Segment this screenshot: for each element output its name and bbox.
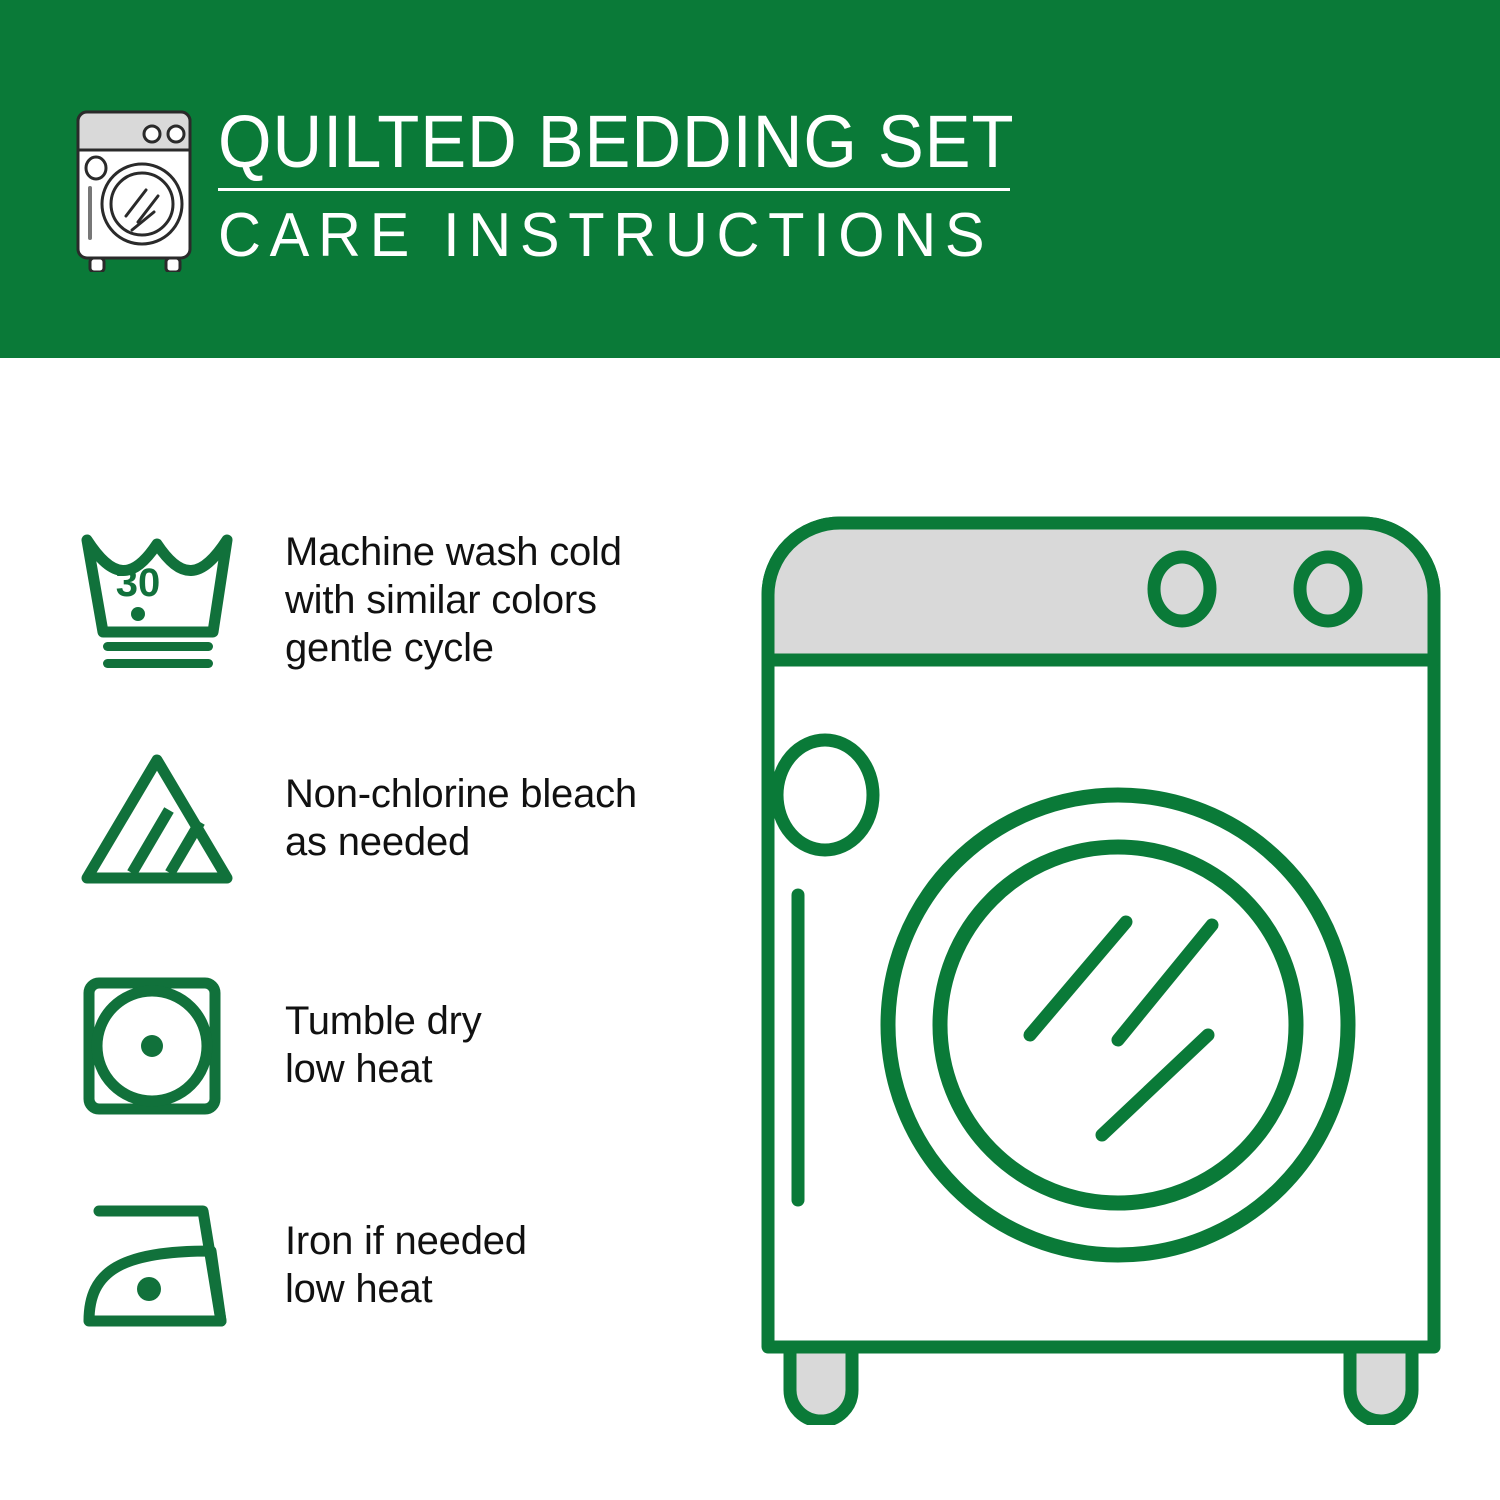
care-text-line: as needed: [285, 818, 637, 866]
care-text-line: low heat: [285, 1045, 482, 1093]
non-chlorine-bleach-triangle-icon: [75, 743, 255, 893]
care-instructions-page: QUILTED BEDDING SET CARE INSTRUCTIONS 30: [0, 0, 1500, 1500]
wash-temperature-label: 30: [116, 561, 161, 605]
care-text-line: with similar colors: [285, 576, 622, 624]
tumble-dry-low-icon: [75, 970, 255, 1120]
care-text-iron: Iron if needed low heat: [285, 1217, 527, 1313]
care-row-bleach: Non-chlorine bleach as needed: [0, 743, 720, 893]
iron-low-heat-icon: [75, 1190, 255, 1340]
care-text-bleach: Non-chlorine bleach as needed: [285, 770, 637, 866]
care-row-machine-wash: 30 Machine wash cold with similar colors…: [0, 525, 720, 675]
care-text-tumble-dry: Tumble dry low heat: [285, 997, 482, 1093]
front-load-washing-machine-illustration: [740, 495, 1460, 1425]
page-title: QUILTED BEDDING SET: [218, 100, 962, 184]
header-text-block: QUILTED BEDDING SET CARE INSTRUCTIONS: [218, 100, 1018, 271]
care-text-line: gentle cycle: [285, 624, 622, 672]
care-text-line: Machine wash cold: [285, 528, 622, 576]
care-row-tumble-dry: Tumble dry low heat: [0, 970, 720, 1120]
washing-machine-icon: [62, 104, 214, 272]
care-text-line: Non-chlorine bleach: [285, 770, 637, 818]
page-subtitle: CARE INSTRUCTIONS: [218, 201, 986, 271]
machine-wash-30-gentle-icon: 30: [75, 525, 255, 675]
header-band: QUILTED BEDDING SET CARE INSTRUCTIONS: [0, 0, 1500, 358]
care-text-line: Iron if needed: [285, 1217, 527, 1265]
title-divider: [218, 188, 1010, 191]
care-text-line: Tumble dry: [285, 997, 482, 1045]
care-text-machine-wash: Machine wash cold with similar colors ge…: [285, 528, 622, 672]
care-row-iron: Iron if needed low heat: [0, 1190, 720, 1340]
care-text-line: low heat: [285, 1265, 527, 1313]
